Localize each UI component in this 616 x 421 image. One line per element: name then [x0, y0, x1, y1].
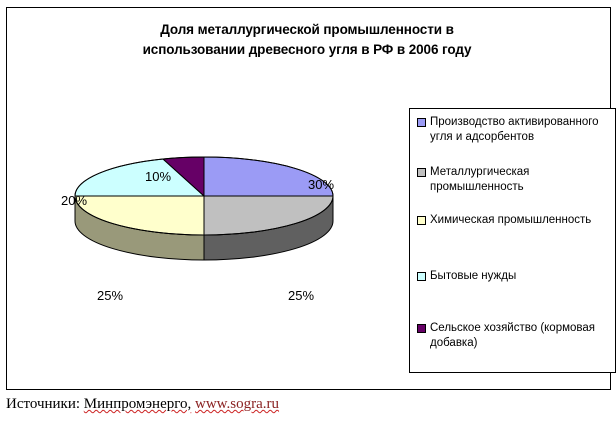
legend-swatch-metallurgy: [417, 168, 426, 177]
chart-legend: Производство активированного угля и адсо…: [409, 108, 616, 373]
legend-item-production: Производство активированного угля и адсо…: [417, 115, 616, 145]
legend-swatch-agriculture: [417, 324, 426, 333]
legend-item-chemical: Химическая промышленность: [417, 213, 616, 228]
chart-title-line-2: использовании древесного угля в РФ в 200…: [67, 40, 547, 60]
legend-swatch-production: [417, 118, 426, 127]
pie-chart-svg: [7, 100, 402, 330]
source-line: Источники: Минпромэнерго, www.sogra.ru: [6, 396, 279, 413]
source-label: Источники:: [6, 396, 80, 412]
legend-item-agriculture: Сельское хозяйство (кормовая добавка): [417, 321, 616, 351]
chart-frame: Доля металлургической промышленности в и…: [6, 7, 611, 390]
legend-swatch-chemical: [417, 216, 426, 225]
data-label-production: 30%: [308, 178, 334, 192]
data-label-chemical: 25%: [97, 289, 123, 303]
legend-label-chemical: Химическая промышленность: [430, 213, 616, 228]
legend-item-household: Бытовые нужды: [417, 269, 616, 284]
data-label-household: 20%: [61, 194, 87, 208]
legend-label-production: Производство активированного угля и адсо…: [430, 115, 616, 145]
legend-label-metallurgy: Металлургическая промышленность: [430, 165, 616, 195]
data-label-agriculture: 10%: [145, 170, 171, 184]
legend-label-household: Бытовые нужды: [430, 269, 616, 284]
pie-chart: [7, 100, 402, 330]
data-label-metallurgy: 25%: [288, 289, 314, 303]
source-organization: Минпромэнерго,: [84, 396, 191, 412]
legend-swatch-household: [417, 272, 426, 281]
chart-title: Доля металлургической промышленности в и…: [67, 20, 547, 60]
legend-label-agriculture: Сельское хозяйство (кормовая добавка): [430, 321, 616, 351]
chart-title-line-1: Доля металлургической промышленности в: [67, 20, 547, 40]
source-url-link[interactable]: www.sogra.ru: [195, 396, 279, 412]
legend-item-metallurgy: Металлургическая промышленность: [417, 165, 616, 195]
